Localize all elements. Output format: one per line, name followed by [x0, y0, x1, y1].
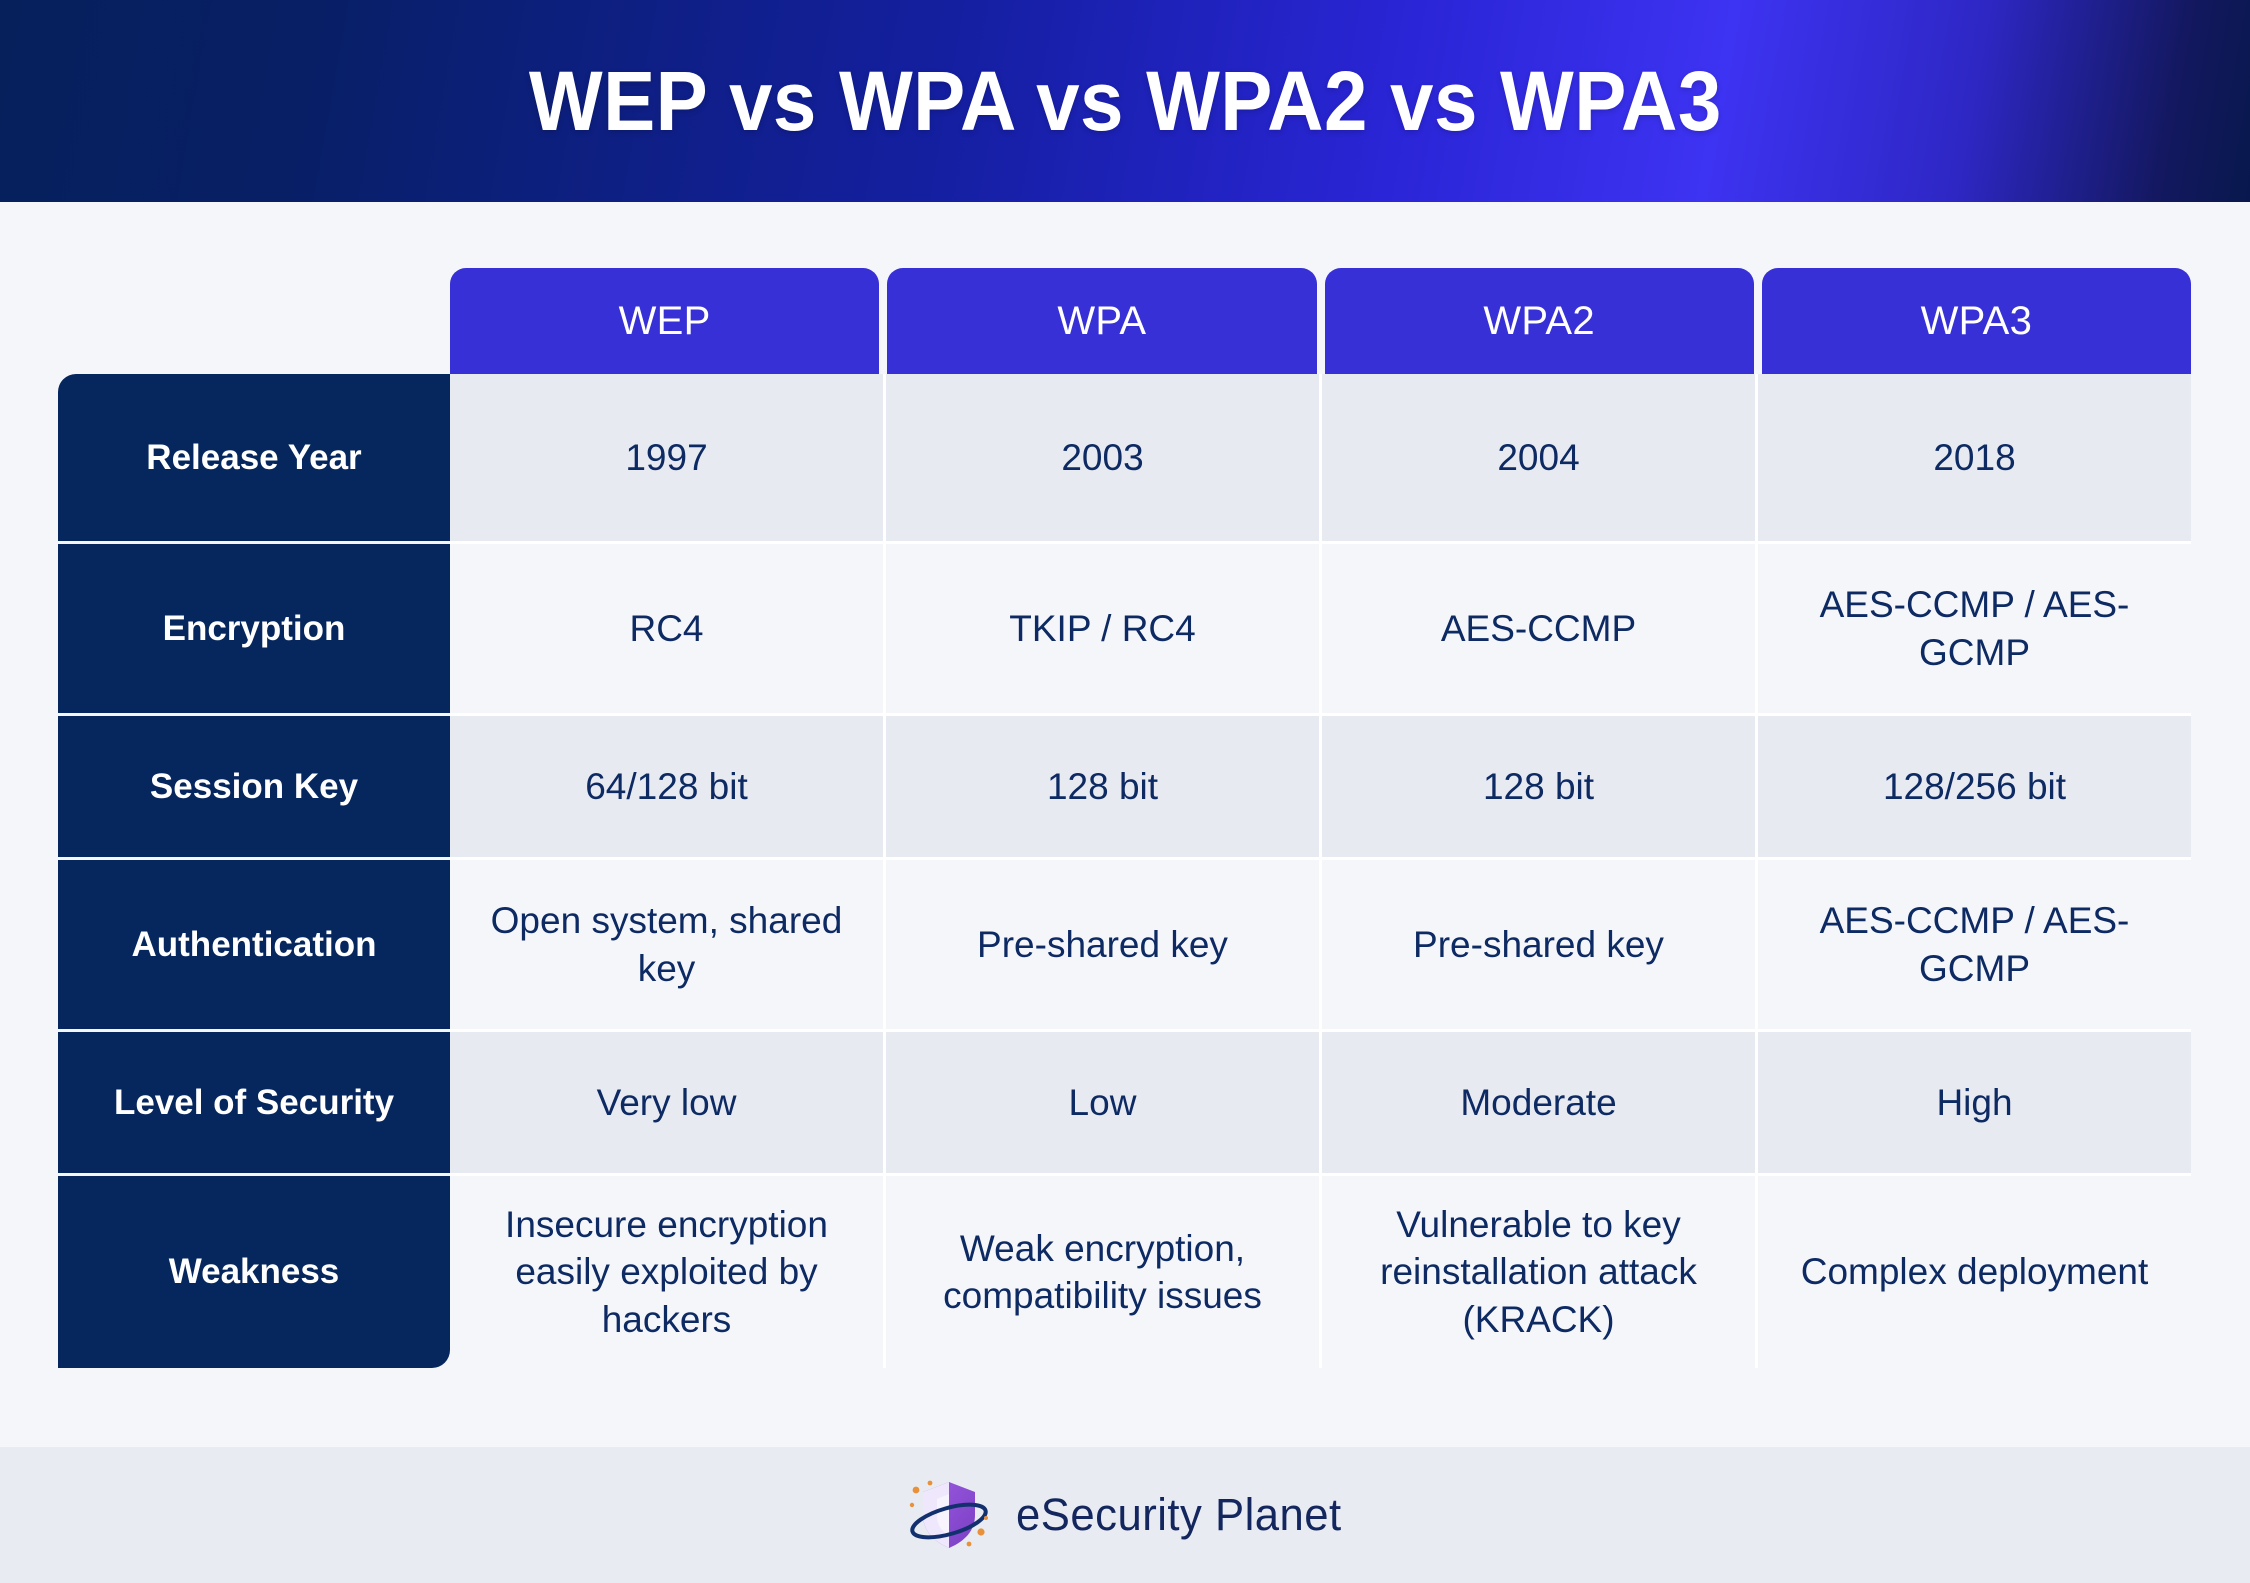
- row-label-release-year: Release Year: [58, 374, 450, 544]
- row-label-session-key: Session Key: [58, 716, 450, 860]
- row-label-level-of-security: Level of Security: [58, 1032, 450, 1176]
- cell-level-of-security-wpa2: Moderate: [1322, 1032, 1758, 1176]
- cell-encryption-wpa3: AES-CCMP / AES-GCMP: [1758, 544, 2191, 716]
- column-header-wpa2: WPA2: [1325, 268, 1754, 374]
- cell-authentication-wep: Open system, shared key: [450, 860, 886, 1032]
- brand-lockup: eSecurity Planet: [903, 1474, 1347, 1556]
- cell-encryption-wpa2: AES-CCMP: [1322, 544, 1758, 716]
- cell-weakness-wep: Insecure encryption easily exploited by …: [450, 1176, 886, 1368]
- cell-release-year-wpa2: 2004: [1322, 374, 1758, 544]
- cell-authentication-wpa: Pre-shared key: [886, 860, 1322, 1032]
- cell-release-year-wpa3: 2018: [1758, 374, 2191, 544]
- cell-weakness-wpa2: Vulnerable to key reinstallation attack …: [1322, 1176, 1758, 1368]
- cell-session-key-wpa3: 128/256 bit: [1758, 716, 2191, 860]
- table-row: Release Year 1997 2003 2004 2018: [58, 374, 2191, 544]
- infographic-page: WEP vs WPA vs WPA2 vs WPA3 WEP WPA WPA2 …: [0, 0, 2250, 1583]
- table-body: Release Year 1997 2003 2004 2018 Encrypt…: [58, 374, 2191, 1368]
- column-header-wep: WEP: [450, 268, 879, 374]
- table-row: Level of Security Very low Low Moderate …: [58, 1032, 2191, 1176]
- row-label-encryption: Encryption: [58, 544, 450, 716]
- cell-level-of-security-wpa3: High: [1758, 1032, 2191, 1176]
- column-header-wpa3: WPA3: [1762, 268, 2191, 374]
- cell-session-key-wpa: 128 bit: [886, 716, 1322, 860]
- cell-release-year-wep: 1997: [450, 374, 886, 544]
- cell-release-year-wpa: 2003: [886, 374, 1322, 544]
- cell-level-of-security-wep: Very low: [450, 1032, 886, 1176]
- cell-authentication-wpa3: AES-CCMP / AES-GCMP: [1758, 860, 2191, 1032]
- cell-weakness-wpa: Weak encryption, compatibility issues: [886, 1176, 1322, 1368]
- row-cells: 64/128 bit 128 bit 128 bit 128/256 bit: [450, 716, 2191, 860]
- cell-encryption-wpa: TKIP / RC4: [886, 544, 1322, 716]
- row-label-authentication: Authentication: [58, 860, 450, 1032]
- table-row: Encryption RC4 TKIP / RC4 AES-CCMP AES-C…: [58, 544, 2191, 716]
- table-column-header-row: WEP WPA WPA2 WPA3: [450, 268, 2191, 374]
- row-cells: Open system, shared key Pre-shared key P…: [450, 860, 2191, 1032]
- row-label-weakness: Weakness: [58, 1176, 450, 1368]
- shield-planet-icon: [903, 1474, 995, 1556]
- cell-session-key-wpa2: 128 bit: [1322, 716, 1758, 860]
- title-banner: WEP vs WPA vs WPA2 vs WPA3: [0, 0, 2250, 202]
- cell-level-of-security-wpa: Low: [886, 1032, 1322, 1176]
- page-title: WEP vs WPA vs WPA2 vs WPA3: [529, 59, 1722, 143]
- cell-encryption-wep: RC4: [450, 544, 886, 716]
- comparison-table: WEP WPA WPA2 WPA3 Release Year 1997 2003…: [58, 268, 2191, 1368]
- column-header-wpa: WPA: [887, 268, 1316, 374]
- table-row: Weakness Insecure encryption easily expl…: [58, 1176, 2191, 1368]
- row-cells: RC4 TKIP / RC4 AES-CCMP AES-CCMP / AES-G…: [450, 544, 2191, 716]
- table-row: Authentication Open system, shared key P…: [58, 860, 2191, 1032]
- cell-weakness-wpa3: Complex deployment: [1758, 1176, 2191, 1368]
- cell-session-key-wep: 64/128 bit: [450, 716, 886, 860]
- row-cells: Very low Low Moderate High: [450, 1032, 2191, 1176]
- table-row: Session Key 64/128 bit 128 bit 128 bit 1…: [58, 716, 2191, 860]
- brand-name: eSecurity Planet: [1016, 1489, 1342, 1541]
- cell-authentication-wpa2: Pre-shared key: [1322, 860, 1758, 1032]
- footer-bar: eSecurity Planet: [0, 1447, 2250, 1583]
- row-cells: 1997 2003 2004 2018: [450, 374, 2191, 544]
- row-cells: Insecure encryption easily exploited by …: [450, 1176, 2191, 1368]
